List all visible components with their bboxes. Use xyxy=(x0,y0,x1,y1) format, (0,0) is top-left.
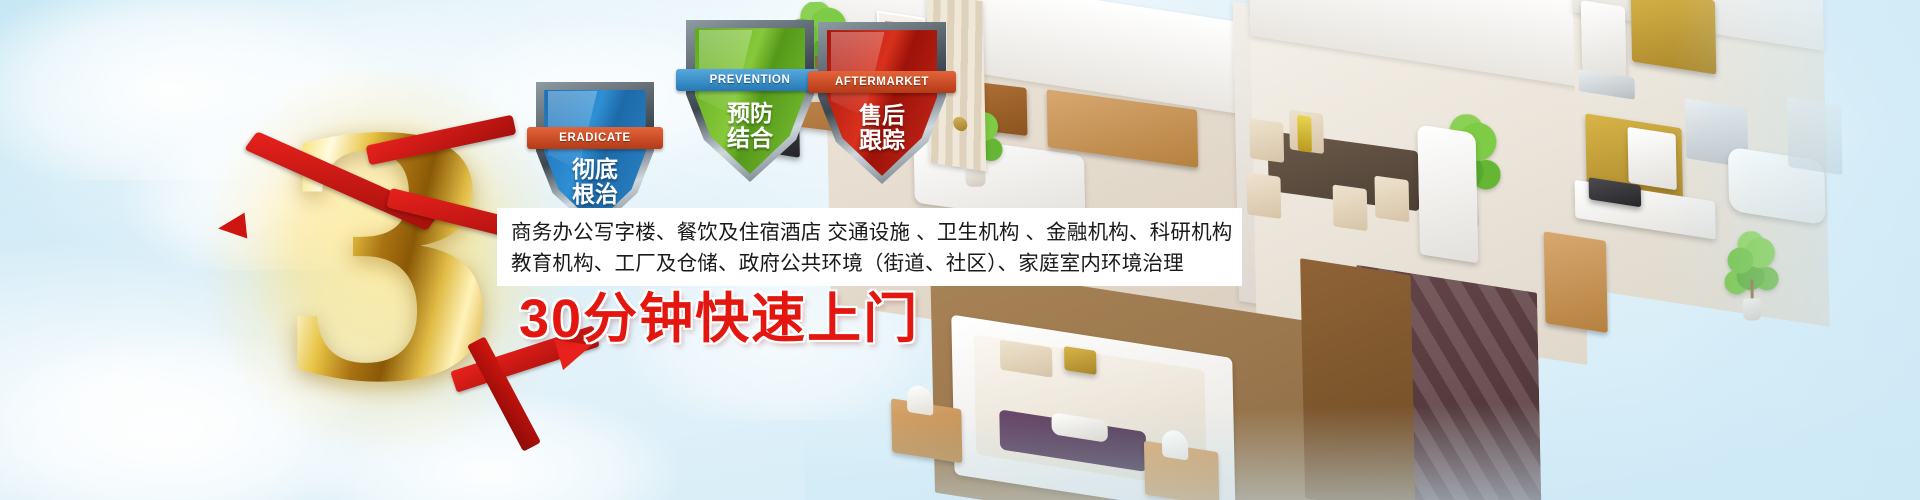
red-arrow-ribbon xyxy=(440,330,640,500)
dining-chair xyxy=(1249,118,1284,163)
badge-cn-line2: 结合 xyxy=(686,126,814,151)
corridor-wood-floor xyxy=(1300,258,1415,500)
bed-throw xyxy=(1064,346,1097,375)
dining-chair xyxy=(1333,184,1368,231)
table-lamp xyxy=(907,384,934,416)
badge-cn-line2: 根治 xyxy=(536,182,654,207)
service-scope-line-2: 教育机构、工厂及仓储、政府公共环境（街道、社区）、家庭室内环境治理 xyxy=(511,248,1230,279)
ribbon-arrow-tail xyxy=(217,213,248,242)
refrigerator xyxy=(1581,0,1627,79)
badge-cn-line1: 售后 xyxy=(818,103,946,128)
badge-chinese-text: 预防 结合 xyxy=(686,101,814,151)
shower-glass xyxy=(1787,97,1843,175)
badge-cn-line1: 彻底 xyxy=(536,157,654,182)
dining-chair xyxy=(1374,176,1409,223)
badge-chinese-text: 售后 跟踪 xyxy=(818,103,946,153)
pantry-cabinet xyxy=(1544,231,1608,333)
badge-chinese-text: 彻底 根治 xyxy=(536,157,654,207)
promo-banner: 3 ERADICATE 彻底 根治 PREVENTION 预防 结合 xyxy=(0,0,1920,500)
badge-cn-line2: 跟踪 xyxy=(818,128,946,153)
badge-ribbon-label: ERADICATE xyxy=(559,132,631,145)
badge-prevention: PREVENTION 预防 结合 xyxy=(686,20,814,182)
table-flowers xyxy=(1297,115,1312,153)
upper-cabinet-gold xyxy=(1631,0,1717,75)
badge-ribbon-label: AFTERMARKET xyxy=(835,75,929,88)
badge-cn-line1: 预防 xyxy=(686,101,814,126)
oven xyxy=(1627,127,1676,190)
badge-aftermarket: AFTERMARKET 售后 跟踪 xyxy=(818,22,946,184)
service-scope-line-1: 商务办公写字楼、餐饮及住宿酒店 交通设施 、卫生机构 、金融机构、科研机构 xyxy=(511,217,1230,248)
badge-ribbon: AFTERMARKET xyxy=(808,71,956,93)
kitchen-island-end xyxy=(1417,124,1478,263)
potted-plant xyxy=(1724,234,1780,321)
badge-ribbon-label: PREVENTION xyxy=(710,73,791,86)
headline-text: 30分钟快速上门 xyxy=(519,292,919,346)
badge-ribbon: PREVENTION xyxy=(676,69,824,91)
dining-chair xyxy=(1246,172,1281,219)
service-scope-panel: 商务办公写字楼、餐饮及住宿酒店 交通设施 、卫生机构 、金融机构、科研机构 教育… xyxy=(497,208,1242,286)
badge-ribbon: ERADICATE xyxy=(527,127,664,149)
